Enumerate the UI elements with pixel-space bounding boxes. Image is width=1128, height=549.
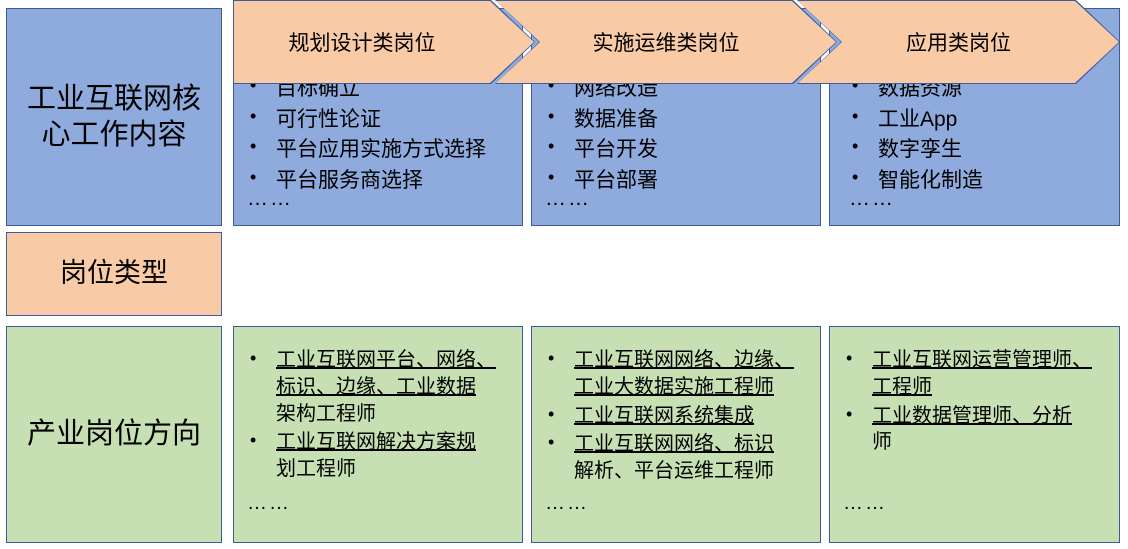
list-item: 工业App bbox=[844, 105, 1115, 135]
ellipsis-core-work-3: …… bbox=[849, 184, 895, 214]
industry-direction-cell-2: 工业互联网网络、边缘、 工业大数据实施工程师 工业互联网系统集成 工业互联网网络… bbox=[531, 326, 821, 543]
row-label-job-type-text: 岗位类型 bbox=[60, 257, 168, 291]
ellipsis-core-work-1: …… bbox=[247, 184, 293, 214]
list-item-line: 划工程师 bbox=[276, 458, 356, 480]
list-item: 工业互联网网络、标识 解析、平台运维工程师 bbox=[540, 431, 816, 485]
industry-direction-cell-3: 工业互联网运营管理师、 工程师 工业数据管理师、分析 师 …… bbox=[829, 326, 1120, 543]
arrow-label-1: 规划设计类岗位 bbox=[233, 0, 491, 84]
list-item: 工业互联网系统集成 bbox=[540, 403, 816, 430]
row-label-industry-direction-text: 产业岗位方向 bbox=[27, 416, 201, 452]
industry-direction-cell-1: 工业互联网平台、网络、 标识、边缘、工业数据 架构工程师 工业互联网解决方案规 … bbox=[233, 326, 523, 543]
industry-direction-list-3: 工业互联网运营管理师、 工程师 工业数据管理师、分析 师 bbox=[838, 347, 1115, 458]
list-item: 工业互联网运营管理师、 工程师 bbox=[838, 347, 1115, 401]
row-label-core-work-line2: 心工作内容 bbox=[41, 119, 186, 151]
list-item-line: 工业大数据实施工程师 bbox=[574, 376, 774, 398]
industry-direction-list-1: 工业互联网平台、网络、 标识、边缘、工业数据 架构工程师 工业互联网解决方案规 … bbox=[242, 347, 518, 485]
list-item: 平台开发 bbox=[540, 135, 816, 165]
row-label-job-type: 岗位类型 bbox=[6, 232, 222, 316]
list-item-line: 工业互联网网络、边缘、 bbox=[574, 349, 794, 371]
ellipsis-industry-2: …… bbox=[545, 492, 589, 515]
arrow-label-2: 实施运维类岗位 bbox=[539, 0, 793, 84]
list-item-line: 解析、平台运维工程师 bbox=[574, 460, 774, 482]
list-item: 数字孪生 bbox=[844, 135, 1115, 165]
diagram-canvas: 工业互联网核 心工作内容 需求分析 目标确立 可行性论证 平台应用实施方式选择 … bbox=[0, 0, 1128, 549]
ellipsis-industry-3: …… bbox=[843, 492, 887, 515]
list-item-line: 工业互联网平台、网络、 bbox=[276, 349, 496, 371]
list-item-line: 师 bbox=[872, 431, 892, 453]
list-item: 工业互联网平台、网络、 标识、边缘、工业数据 架构工程师 bbox=[242, 347, 518, 427]
list-item-line: 工程师 bbox=[872, 376, 932, 398]
ellipsis-industry-1: …… bbox=[247, 492, 291, 515]
list-item-line: 工业互联网系统集成 bbox=[574, 405, 754, 427]
list-item-line: 工业数据管理师、分析 bbox=[872, 405, 1072, 427]
list-item: 平台应用实施方式选择 bbox=[242, 135, 518, 165]
list-item-line: 工业互联网解决方案规 bbox=[276, 431, 476, 453]
row-label-core-work: 工业互联网核 心工作内容 bbox=[6, 8, 222, 226]
row-label-core-work-line1: 工业互联网核 bbox=[27, 83, 201, 115]
industry-direction-list-2: 工业互联网网络、边缘、 工业大数据实施工程师 工业互联网系统集成 工业互联网网络… bbox=[540, 347, 816, 487]
ellipsis-core-work-2: …… bbox=[545, 184, 591, 214]
list-item: 工业互联网解决方案规 划工程师 bbox=[242, 429, 518, 483]
list-item-line: 架构工程师 bbox=[276, 403, 376, 425]
list-item-line: 工业互联网运营管理师、 bbox=[872, 349, 1092, 371]
list-item: 工业互联网网络、边缘、 工业大数据实施工程师 bbox=[540, 347, 816, 401]
list-item-line: 标识、边缘、工业数据 bbox=[276, 376, 476, 398]
row-label-industry-direction: 产业岗位方向 bbox=[6, 326, 222, 543]
arrow-label-3: 应用类岗位 bbox=[841, 0, 1076, 84]
list-item: 数据准备 bbox=[540, 105, 816, 135]
list-item-line: 工业互联网网络、标识 bbox=[574, 433, 774, 455]
list-item: 可行性论证 bbox=[242, 105, 518, 135]
list-item: 工业数据管理师、分析 师 bbox=[838, 403, 1115, 457]
